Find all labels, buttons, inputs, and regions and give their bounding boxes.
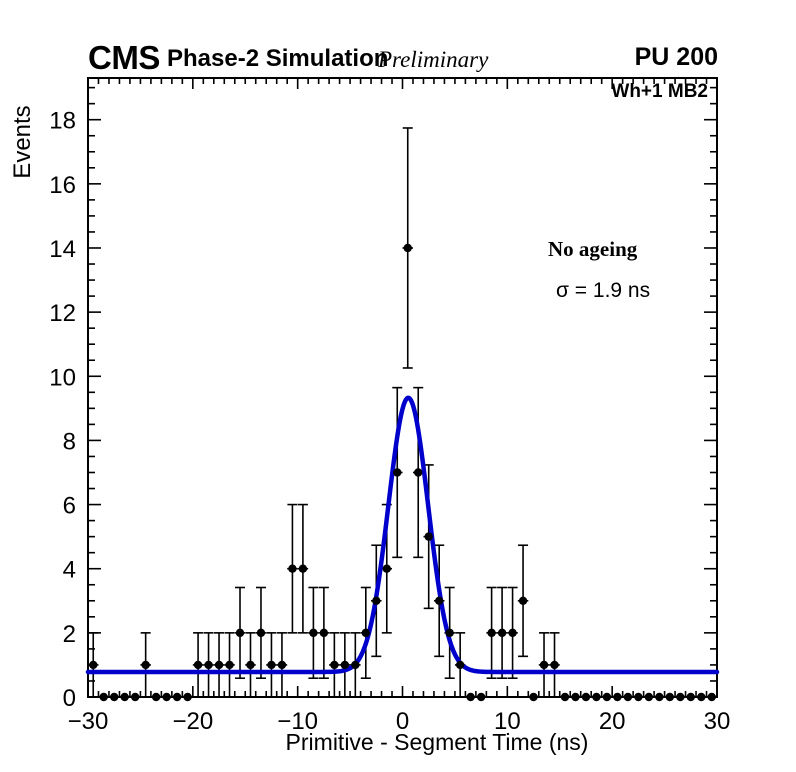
svg-text:−30: −30	[68, 708, 109, 735]
fit-curve	[88, 398, 717, 672]
plot-canvas: CMS Phase-2 Simulation Preliminary PU 20…	[0, 0, 796, 772]
axis-frame	[88, 78, 717, 697]
svg-text:8: 8	[63, 428, 76, 455]
chart-svg: −30−20−100102030024681012141618	[0, 0, 796, 772]
svg-text:30: 30	[704, 708, 731, 735]
svg-text:2: 2	[63, 621, 76, 648]
svg-text:0: 0	[396, 708, 409, 735]
svg-text:16: 16	[49, 172, 76, 199]
svg-text:−20: −20	[172, 708, 213, 735]
svg-text:12: 12	[49, 300, 76, 327]
axis-tick-labels: −30−20−100102030024681012141618	[49, 108, 730, 735]
svg-text:18: 18	[49, 108, 76, 135]
svg-text:10: 10	[49, 364, 76, 391]
svg-text:4: 4	[63, 557, 76, 584]
svg-text:14: 14	[49, 236, 76, 263]
axis-ticks	[88, 78, 717, 697]
svg-text:10: 10	[494, 708, 521, 735]
svg-text:20: 20	[599, 708, 626, 735]
svg-text:6: 6	[63, 493, 76, 520]
svg-text:0: 0	[63, 685, 76, 712]
svg-text:−10: −10	[277, 708, 318, 735]
